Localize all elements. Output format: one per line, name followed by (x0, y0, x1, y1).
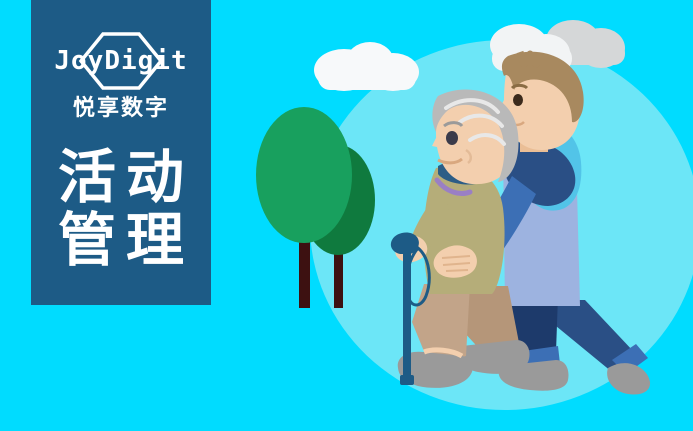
poster-canvas: JoyDigit 悦享数字 活动 管理 (0, 0, 693, 431)
caregiver-eye (513, 94, 523, 106)
logo-lockup: JoyDigit (31, 30, 211, 92)
brand-panel: JoyDigit 悦享数字 活动 管理 (31, 0, 211, 305)
title-line-1: 活动 (48, 146, 194, 209)
elderly-eye (446, 131, 458, 145)
logo-wordmark: JoyDigit (54, 48, 187, 74)
logo-subtitle: 悦享数字 (73, 98, 169, 120)
caregiver-hair-tuft (520, 52, 542, 64)
cane-tip (400, 375, 414, 385)
poster-title: 活动 管理 (48, 146, 194, 271)
title-line-2: 管理 (48, 209, 194, 272)
